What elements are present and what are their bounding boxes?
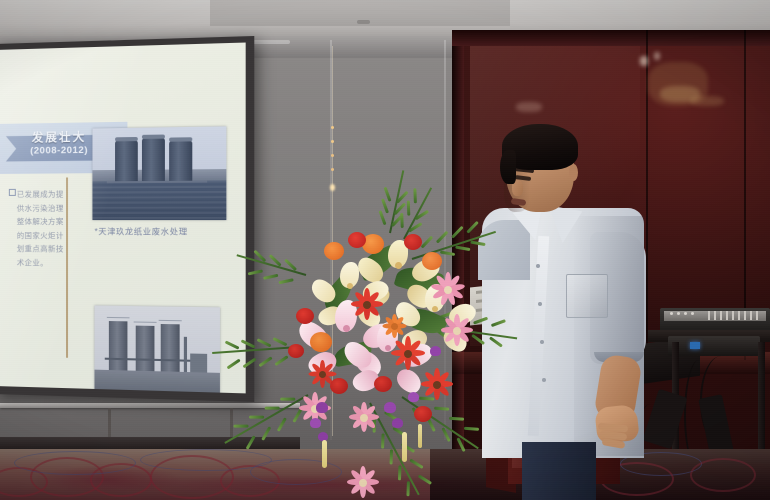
slide-vertical-rule [66, 177, 68, 357]
amplifier-display-led [690, 342, 700, 349]
shirt-pocket [566, 274, 608, 318]
floral-arrangement [262, 226, 530, 500]
accent-light-icon [331, 126, 334, 129]
gerbera-pink [440, 314, 474, 348]
ceiling-vent-icon [357, 20, 370, 24]
shirt-button [538, 302, 542, 306]
gerbera-pink [430, 272, 466, 308]
orchid-flower [384, 402, 396, 413]
carnation-red [374, 376, 392, 392]
gerbera-orange [382, 314, 408, 340]
photo1-tank [142, 138, 165, 181]
wood-wall-top-trim [452, 30, 770, 46]
slide-photo-2 [95, 306, 220, 394]
shirt-button [542, 378, 546, 382]
projection-screen: 发展壮大 (2008-2012) 已发展成为提供水污染治理整体解决方案的国家火炬… [0, 36, 254, 402]
orchid-flower [408, 392, 419, 402]
accent-light-icon [330, 184, 335, 191]
carnation-red [404, 234, 422, 250]
hair-sideburn [500, 150, 516, 184]
hanging-bloom [322, 440, 327, 468]
photo1-tank [115, 140, 138, 181]
audio-mixer [660, 308, 770, 332]
carnation-red [348, 232, 366, 248]
wall-baseboard [0, 437, 300, 449]
carnation-red [296, 308, 314, 324]
shirt-button [536, 264, 540, 268]
screen-surface: 发展壮大 (2008-2012) 已发展成为提供水污染治理整体解决方案的国家火炬… [0, 43, 246, 394]
gerbera-pink [346, 466, 380, 500]
hanging-bloom [418, 424, 422, 448]
carpet-motif-blue [14, 451, 136, 475]
carpet-motif [690, 458, 756, 492]
carnation-red [414, 406, 432, 422]
orchid-flower [392, 418, 403, 428]
slide-banner-title: 发展壮大 [14, 128, 105, 145]
slide-bullet-text: 已发展成为提供水污染治理整体解决方案的国家火炬计划重点高新技术企业。 [8, 188, 64, 271]
wood-wall-reflection [690, 96, 724, 106]
carnation-orange [422, 252, 442, 270]
carnation-orange [324, 242, 344, 260]
palm-frond [400, 395, 480, 451]
shirt-button [540, 340, 544, 344]
photo2-silo [161, 324, 180, 372]
carnation-red [330, 378, 348, 394]
wood-wall-specular [516, 102, 542, 112]
orchid-flower [310, 418, 321, 428]
photo1-reflection [92, 181, 226, 220]
photo1-tank [169, 141, 192, 182]
wood-wall-specular [654, 52, 660, 60]
wall-seam [230, 408, 233, 438]
audio-amplifier [668, 336, 760, 356]
slide-caption-1: *天津玖龙纸业废水处理 [95, 226, 188, 237]
gerbera-red [390, 336, 426, 372]
hanging-bloom [402, 432, 407, 462]
photo-scene: 发展壮大 (2008-2012) 已发展成为提供水污染治理整体解决方案的国家火炬… [0, 0, 770, 500]
photo2-silo [109, 321, 128, 370]
slide-photo-1 [92, 126, 226, 220]
wall-seam [108, 408, 111, 438]
gerbera-red [420, 368, 454, 402]
wood-wall-specular [640, 56, 648, 66]
ear [569, 164, 578, 181]
accent-light-icon [331, 140, 334, 143]
wall-rail [0, 403, 300, 408]
photo2-structure [190, 354, 207, 373]
accent-light-icon [331, 154, 334, 157]
photo2-silo [136, 326, 155, 372]
photo2-pipe [184, 337, 187, 372]
accent-light-icon [331, 168, 334, 171]
carnation-orange [310, 332, 332, 352]
gerbera-red [350, 288, 384, 322]
gerbera-pink [348, 402, 380, 434]
orchid-flower [430, 346, 441, 356]
orchid-flower [316, 402, 328, 413]
photo2-ground [95, 370, 220, 393]
presentation-slide: 发展壮大 (2008-2012) 已发展成为提供水污染治理整体解决方案的国家火炬… [0, 43, 246, 394]
slide-bullet-block: 已发展成为提供水污染治理整体解决方案的国家火炬计划重点高新技术企业。 [8, 188, 64, 271]
carnation-red [288, 344, 304, 358]
trousers [522, 442, 596, 500]
